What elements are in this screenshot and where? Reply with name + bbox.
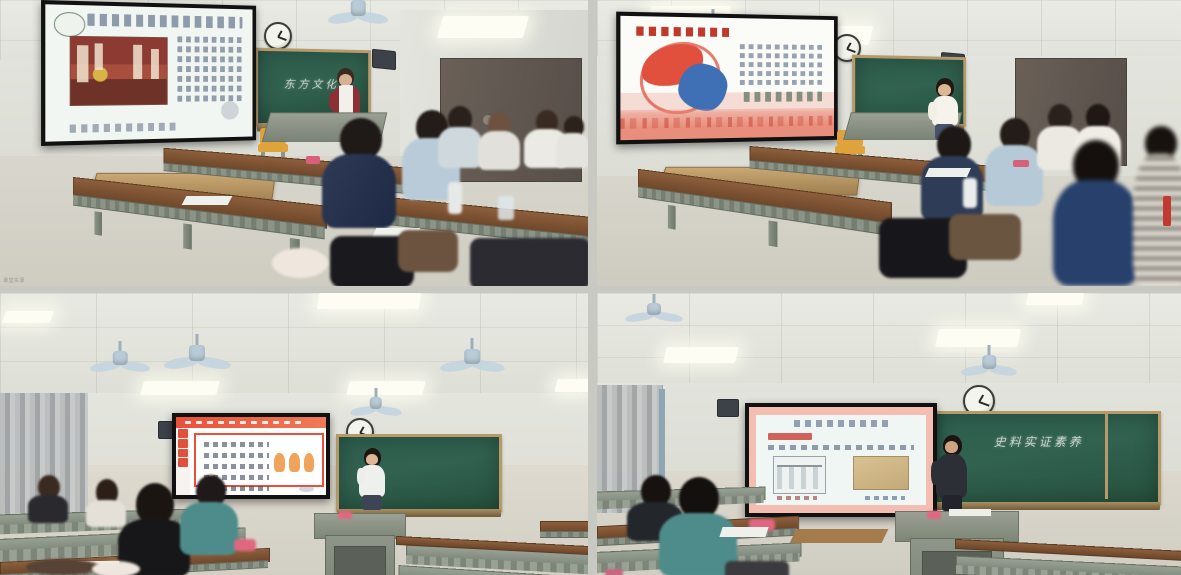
- ceiling-light-panel: [2, 311, 54, 323]
- classroom-scene-3: [0, 293, 588, 575]
- papers-on-desk: [925, 168, 971, 177]
- slide-right-caption: [865, 496, 906, 500]
- papers-on-lectern: [949, 509, 991, 516]
- plate-object: [92, 561, 140, 575]
- ceiling-fan-icon: [92, 351, 148, 377]
- student-figure: [659, 477, 737, 575]
- presenter-face: [366, 454, 378, 465]
- classroom-scene-1: 东方文化: [0, 0, 588, 286]
- presenter-arm: [931, 461, 940, 485]
- blackboard-chalk-text: 史料实证素养: [994, 433, 1084, 450]
- slide-body-text: [739, 44, 822, 80]
- slide-seal-icon: [221, 101, 239, 119]
- ceiling-light-panel: [346, 381, 425, 395]
- student-figure: [478, 112, 522, 170]
- student-figure: [318, 118, 396, 228]
- slide-left-caption: [777, 496, 818, 500]
- ceiling-fan-icon: [330, 0, 386, 30]
- wall-clock-icon: [264, 22, 292, 50]
- ceiling-light-panel: [663, 347, 739, 363]
- pink-item: [1013, 160, 1029, 167]
- slide-tag-label: [768, 433, 812, 440]
- slide-document-image: [853, 456, 909, 490]
- ceiling-fan-icon: [963, 355, 1015, 381]
- slide-body-text: [768, 445, 914, 450]
- slide-footer-mark: [299, 486, 314, 492]
- projector-screen: [616, 12, 838, 145]
- slide-skyline-graphic: [620, 108, 834, 140]
- bag-object: [949, 214, 1021, 260]
- slide-inner-area: [756, 415, 925, 504]
- watermark-text: 课堂实录: [3, 277, 25, 284]
- water-bottle: [963, 178, 977, 208]
- teacher-side-desk: [540, 521, 588, 543]
- ceiling-fan-icon: [166, 345, 228, 375]
- slide-title-line: [87, 13, 243, 28]
- ceiling-fan-icon: [442, 349, 502, 377]
- plate-object: [272, 248, 328, 278]
- red-graphic-on-shirt: [1163, 196, 1171, 226]
- slide-logo-icon: [54, 11, 85, 37]
- presenter-arm: [357, 468, 365, 485]
- papers-on-desk: [719, 527, 768, 537]
- photo-panel-bottom-left[interactable]: [0, 293, 588, 575]
- bag-object: [398, 230, 458, 272]
- bag-object: [470, 238, 588, 286]
- water-bottle: [448, 182, 462, 214]
- presenter-torso: [936, 454, 967, 498]
- slide-figures: [274, 445, 314, 472]
- projected-slide: [45, 4, 252, 141]
- presenter-face: [938, 84, 951, 96]
- ceiling-light-panel: [317, 293, 422, 309]
- presenter-arm: [928, 102, 937, 120]
- slide-photo: [70, 36, 168, 106]
- photo-panel-bottom-right[interactable]: 史料实证素养: [597, 293, 1181, 575]
- student-figure: [180, 475, 240, 555]
- ceiling-tile-grid: [597, 293, 1181, 397]
- classroom-scene-2: [597, 0, 1181, 286]
- slide-body-text: [178, 36, 243, 101]
- student-figure: [1133, 126, 1181, 286]
- glass-cup: [498, 196, 514, 220]
- presenter-legs: [362, 495, 382, 510]
- small-item: [605, 569, 623, 575]
- wall-speaker-icon: [717, 399, 739, 417]
- photo-panel-top-right[interactable]: [597, 0, 1181, 286]
- slide-building-sketch: [773, 456, 826, 494]
- bag-object: [26, 559, 100, 575]
- photo-panel-top-left[interactable]: 东方文化: [0, 0, 588, 286]
- lectern: [314, 513, 404, 575]
- slide-header-bar: [176, 417, 326, 428]
- pink-item: [234, 539, 256, 551]
- slide-body-text: [204, 442, 270, 473]
- pink-item: [338, 511, 352, 519]
- photo-collage: 东方文化: [0, 0, 1181, 575]
- wall-speaker-icon: [372, 49, 396, 71]
- ceiling: [597, 293, 1181, 397]
- blackboard-panel-divider: [1105, 411, 1108, 499]
- presenter-figure: [356, 448, 388, 510]
- pink-item: [927, 511, 941, 519]
- projector-screen: [745, 403, 937, 517]
- ceiling-light-panel: [437, 16, 529, 38]
- slide-content-2: [620, 16, 834, 140]
- may-fourth-logo-icon: [641, 41, 729, 118]
- ceiling-fan-icon: [627, 303, 681, 327]
- ceiling-light-panel: [1026, 293, 1085, 305]
- slide-content-4: [749, 407, 933, 513]
- projected-slide: [749, 407, 933, 513]
- slide-content-1: [45, 4, 252, 141]
- floor-strip: [790, 529, 889, 543]
- classroom-scene-4: 史料实证素养: [597, 293, 1181, 575]
- papers-on-desk: [182, 196, 233, 205]
- pink-item: [306, 156, 320, 164]
- slide-caption-line: [70, 123, 176, 133]
- projector-screen: [41, 0, 256, 146]
- ceiling-light-panel: [935, 329, 1021, 347]
- presenter-figure: [933, 435, 971, 511]
- slide-quote-line: [744, 92, 822, 102]
- student-figure: [1053, 140, 1141, 286]
- ceiling-light-panel: [554, 379, 588, 392]
- presenter-face: [945, 441, 958, 453]
- student-figure: [556, 116, 588, 168]
- student-figure: [28, 475, 70, 523]
- slide-heading: [636, 26, 728, 37]
- ceiling-light-panel: [140, 381, 220, 395]
- projected-slide: [620, 16, 834, 140]
- bag-object: [725, 561, 789, 575]
- presenter-arm: [329, 92, 338, 110]
- slide-heading: [794, 420, 889, 427]
